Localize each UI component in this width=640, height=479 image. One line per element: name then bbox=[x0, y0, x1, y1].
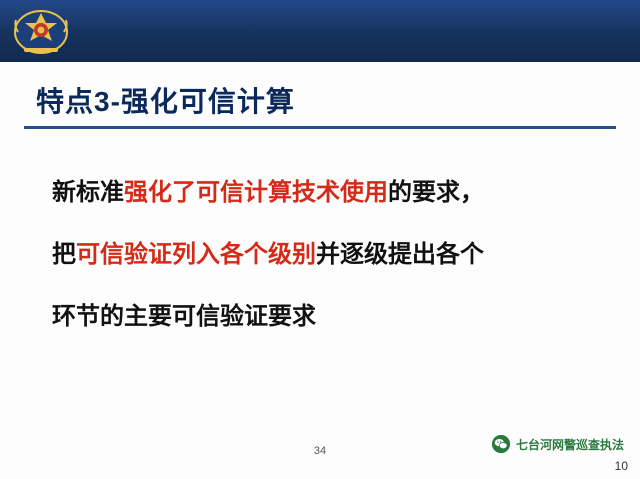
body-run: 把 bbox=[52, 241, 76, 268]
body-run: 的要求， bbox=[388, 179, 484, 206]
slide-title: 特点3-强化可信计算 bbox=[36, 80, 295, 120]
presentation-slide: 特点3-强化可信计算 新标准强化了可信计算技术使用的要求， 把可信验证列入各个级… bbox=[0, 0, 640, 479]
slide-header-band-gradient bbox=[0, 0, 640, 62]
slide-header-band bbox=[0, 0, 640, 62]
body-run-highlight: 强化了可信计算技术使用 bbox=[124, 179, 388, 206]
slide-text-block: 新标准强化了可信计算技术使用的要求， 把可信验证列入各个级别并逐级提出各个 环节… bbox=[52, 162, 597, 348]
body-run: 新标准 bbox=[52, 179, 124, 206]
wechat-official-account-icon bbox=[492, 435, 510, 453]
corner-number: 10 bbox=[615, 459, 628, 473]
body-run-highlight: 可信验证列入各个级别 bbox=[76, 241, 316, 268]
body-line-3: 环节的主要可信验证要求 bbox=[52, 286, 597, 348]
watermark-label: 七台河网警巡查执法 bbox=[516, 436, 624, 453]
body-line-2: 把可信验证列入各个级别并逐级提出各个 bbox=[52, 224, 597, 286]
watermark: 七台河网警巡查执法 bbox=[492, 435, 624, 453]
title-underline bbox=[24, 126, 616, 129]
slide-body: 特点3-强化可信计算 新标准强化了可信计算技术使用的要求， 把可信验证列入各个级… bbox=[0, 62, 640, 479]
body-line-1: 新标准强化了可信计算技术使用的要求， bbox=[52, 162, 597, 224]
body-run: 并逐级提出各个 bbox=[316, 241, 484, 268]
body-run: 环节的主要可信验证要求 bbox=[52, 303, 316, 330]
china-police-badge-icon bbox=[10, 6, 72, 56]
